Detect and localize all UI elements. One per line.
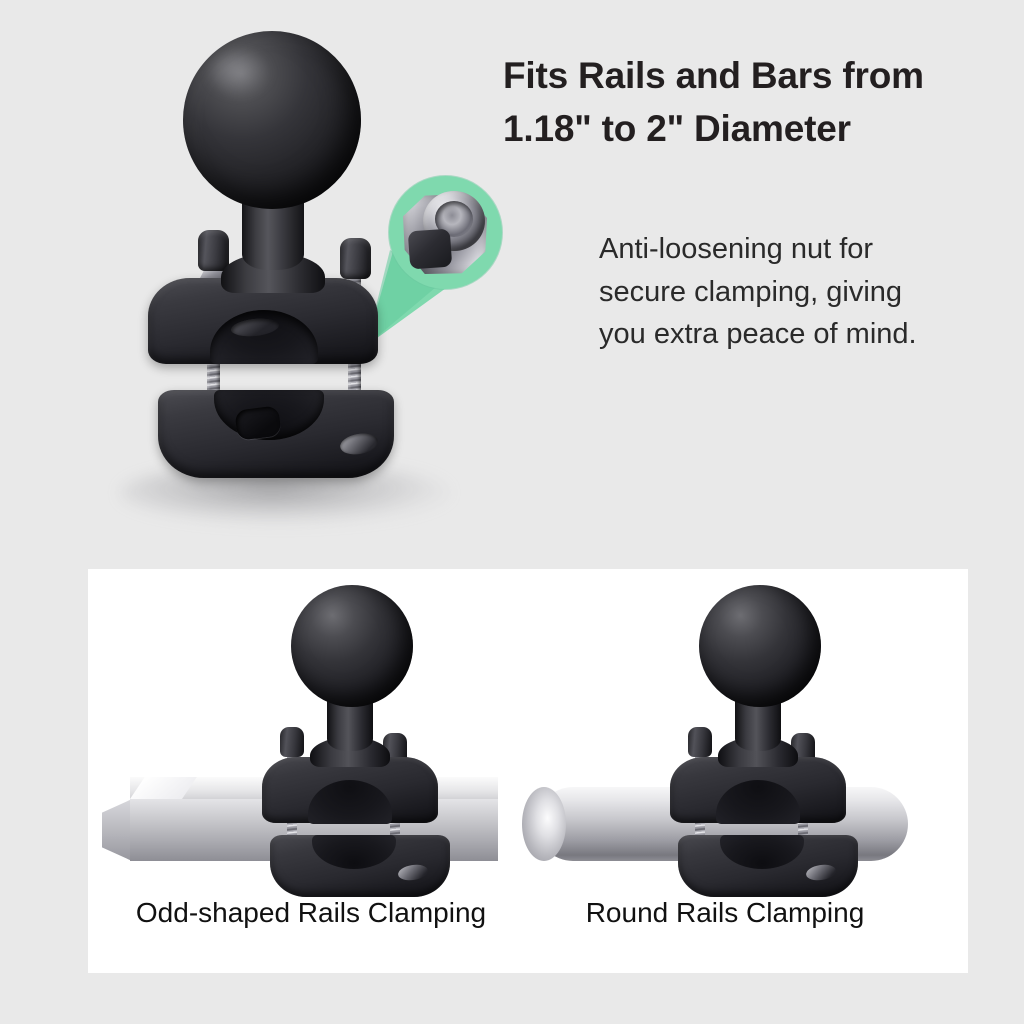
caption-round-rails: Round Rails Clamping [525, 897, 925, 929]
scene-round-rail [532, 577, 932, 887]
ball-highlight [209, 51, 271, 97]
application-scenarios-panel: Odd-shaped Rails Clamping Round Ra [88, 569, 968, 973]
square-rail-end-face [102, 799, 132, 861]
hero-product-photo [90, 10, 510, 550]
anti-loosening-nut-closeup [401, 186, 493, 278]
rubber-ball [183, 31, 361, 209]
bolt-knob-right [340, 238, 371, 279]
mini-rubber-ball-right [699, 585, 821, 707]
round-rail-end-cap [522, 787, 566, 861]
caption-odd-shaped-rails: Odd-shaped Rails Clamping [111, 897, 511, 929]
nut-nylon-collar [408, 229, 453, 270]
scene-odd-shaped-rail [124, 577, 524, 887]
mini-bolt-knob-left-r [688, 727, 712, 757]
mini-clamp-assembly-left [124, 577, 524, 887]
feature-description: Anti-loosening nut for secure clamping, … [599, 228, 999, 356]
mini-clamp-assembly-right [532, 577, 932, 887]
body-line-3: you extra peace of mind. [599, 313, 999, 356]
product-feature-image: Fits Rails and Bars from 1.18" to 2" Dia… [0, 0, 1024, 1024]
headline-line-1: Fits Rails and Bars from [503, 50, 1003, 103]
mini-bolt-knob-left [280, 727, 304, 757]
mini-rubber-ball-left [291, 585, 413, 707]
bolt-knob-left [198, 230, 229, 271]
body-line-1: Anti-loosening nut for [599, 228, 999, 271]
page-title: Fits Rails and Bars from 1.18" to 2" Dia… [503, 50, 1003, 155]
body-line-2: secure clamping, giving [599, 271, 999, 314]
headline-line-2: 1.18" to 2" Diameter [503, 103, 1003, 156]
